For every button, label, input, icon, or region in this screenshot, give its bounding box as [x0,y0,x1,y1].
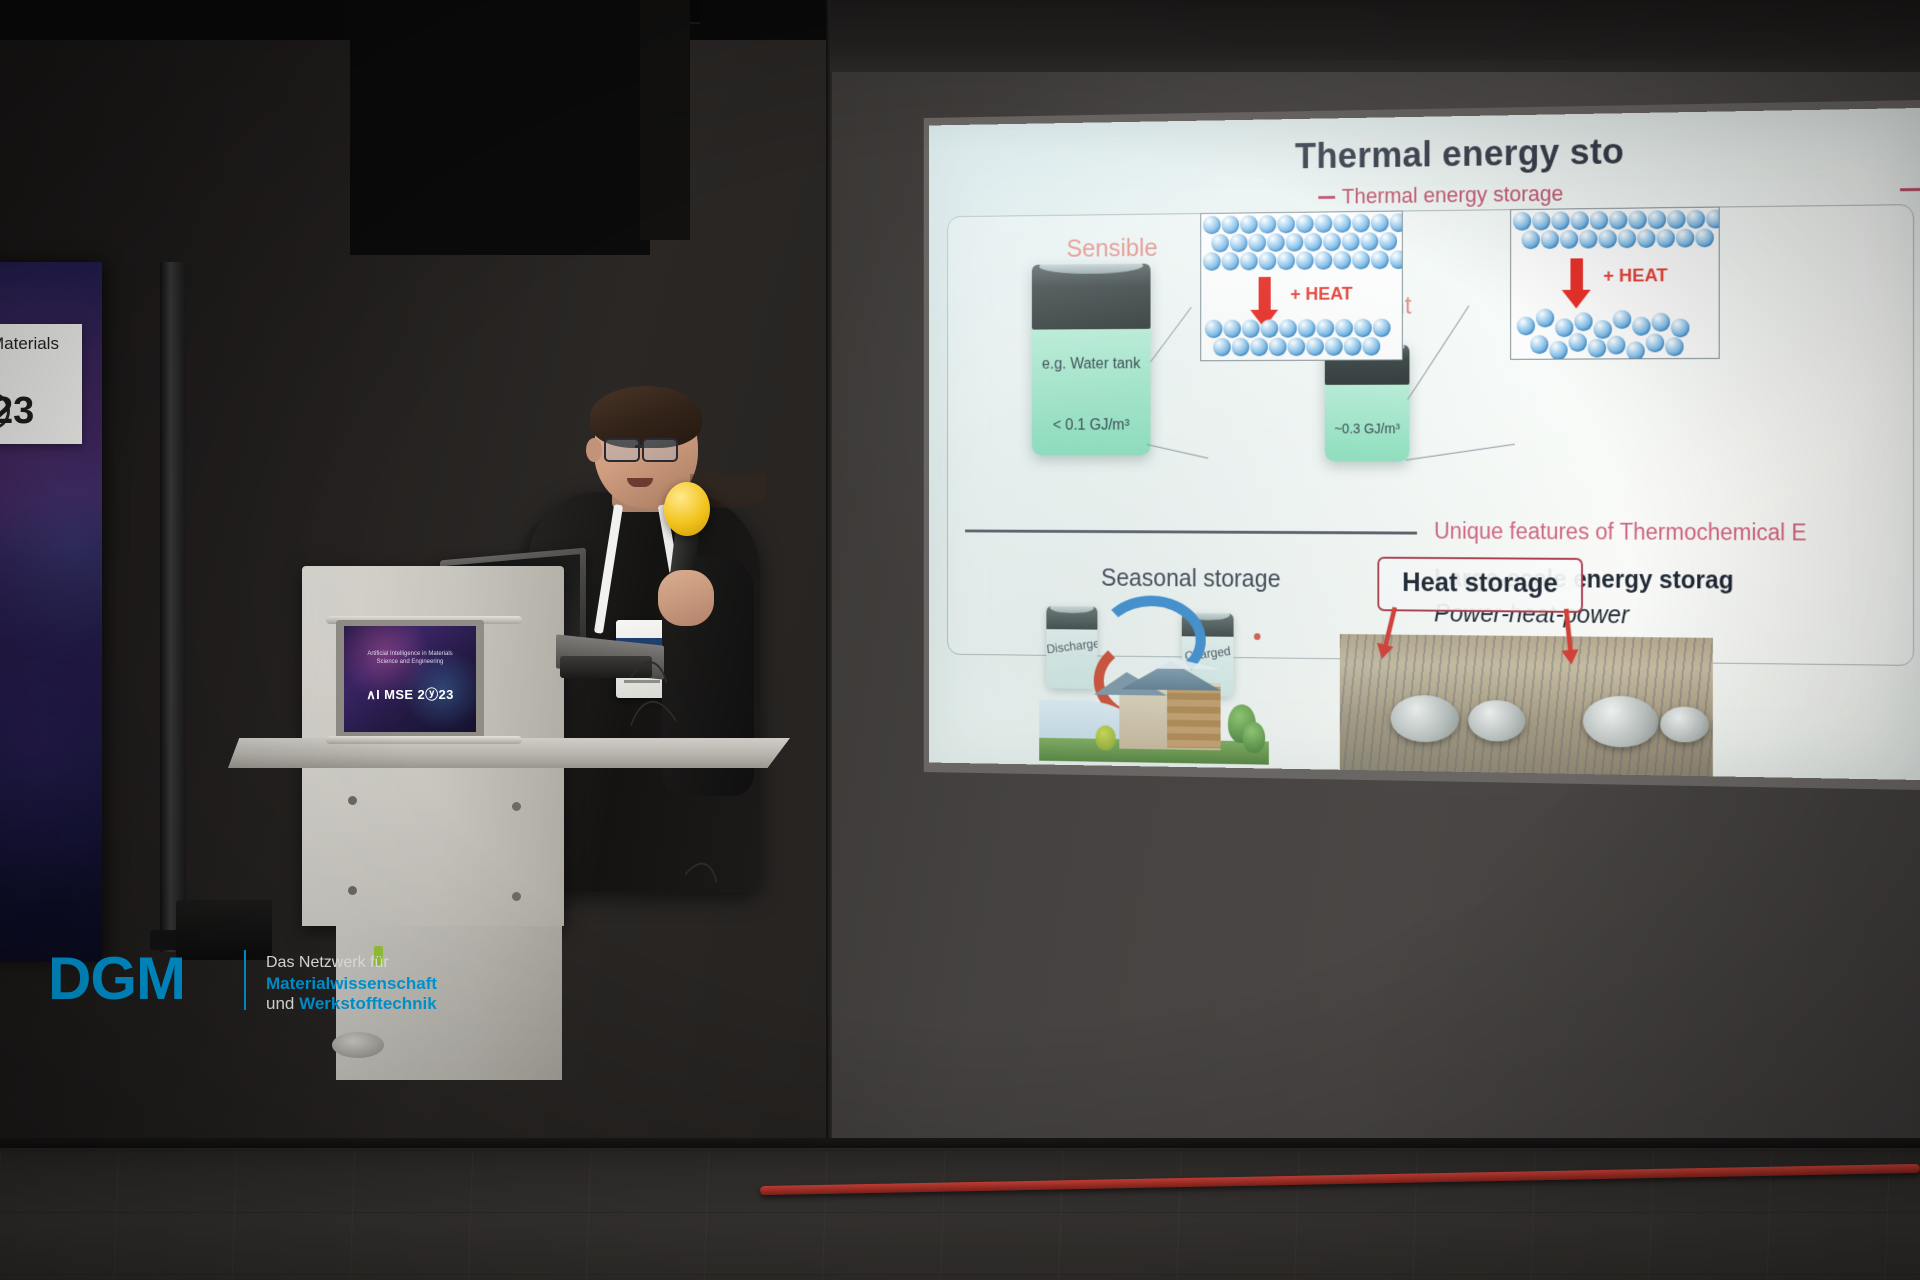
molecule-row [1513,209,1720,230]
photo-scene: Thermal energy sto Thermal energy storag… [0,0,1920,1280]
heat-arrow-icon [1259,277,1271,312]
lectern-screw [512,802,521,811]
molecule-row [1211,232,1397,252]
lectern-screen-line1: Artificial Intelligence in Materials Sci… [362,650,458,666]
molecule-row-scattered [1530,332,1683,359]
heat-storage-label: Heat storage [1379,559,1581,607]
lectern-screen-glow [344,626,476,732]
latent-density-label: ~0.3 GJ/m³ [1325,421,1410,437]
latent-molecule-inset: + HEAT [1510,207,1720,360]
subtitle-rule-left [1318,196,1335,199]
speaker-ear [586,438,602,462]
dgm-tagline-line3: und Werkstofftechnik [266,994,437,1014]
banner-card-line2: 23 [0,390,34,433]
roof-snow [1108,657,1233,670]
jar-lid [1032,264,1151,330]
sensible-label: Sensible [1066,233,1157,264]
banner-pole [160,262,186,952]
rollup-banner: Materials 23 ne [0,262,102,962]
dgm-wordmark: DGM [48,944,185,1013]
house-wood-facade [1167,686,1221,748]
dgm-line3-bold: Werkstofftechnik [299,994,437,1013]
heat-arrow-icon [1570,258,1583,292]
latent-jar: ~0.3 GJ/m³ [1325,345,1410,462]
lectern-foot [332,1032,384,1058]
glasses-right-lens [642,438,678,462]
dgm-divider [244,950,246,1010]
dgm-tagline-line2: Materialwissenschaft [266,974,437,994]
tree [1243,722,1265,753]
slide-title: Thermal energy sto [1295,131,1624,177]
dgm-logo: DGM Das Netzwerk für Materialwissenschaf… [48,944,448,1018]
glasses-left-lens [604,438,640,462]
lectern-screen-line2: ∧I MSE 2ⓨ23 [344,684,476,703]
lectern-screw [348,796,357,805]
storage-tank [1660,706,1709,742]
storage-tank [1468,700,1525,742]
projected-slide: Thermal energy sto Thermal energy storag… [929,108,1920,780]
heat-label-right: + HEAT [1603,265,1668,287]
house-illustration [1039,646,1269,764]
lectern-screw [348,886,357,895]
seasonal-storage-label: Seasonal storage [1101,565,1281,594]
dgm-line3-prefix: und [266,994,299,1013]
unique-features-label: Unique features of Thermochemical E [1434,518,1807,546]
sensible-molecule-inset: + HEAT [1200,211,1403,362]
jar-body [1032,323,1151,455]
speaker-hand [658,570,714,626]
heat-storage-callout: Heat storage [1377,557,1583,613]
lectern-screw [512,892,521,901]
water-tank-label: e.g. Water tank [1032,356,1151,374]
molecule-row [1522,228,1714,249]
lectern-confidence-monitor[interactable]: Artificial Intelligence in Materials Sci… [344,626,476,732]
molecule-row [1205,319,1391,339]
microphone-head-icon [664,482,710,536]
storage-tank [1391,695,1459,743]
molecule-row [1203,213,1403,234]
shrub [1096,725,1116,750]
banner-info-card: Materials 23 [0,324,82,444]
subtitle-rule-right [1900,188,1920,191]
accent-dot [1254,633,1261,640]
wall-niche [350,0,650,255]
sensible-density-label: < 0.1 GJ/m³ [1032,417,1151,434]
molecule-row [1213,337,1380,356]
water-tank-jar: e.g. Water tank < 0.1 GJ/m³ [1032,264,1151,456]
slide-subtitle: Thermal energy storage [1342,181,1564,209]
wall-niche-edge [640,0,690,240]
molecule-row [1203,250,1403,270]
lectern-rail-bottom [326,736,522,744]
heat-label-left: + HEAT [1290,284,1352,306]
storage-tank [1583,695,1658,747]
banner-card-line1: Materials [0,334,59,354]
solar-thermal-plant-photo [1340,634,1713,776]
dgm-tagline-line1: Das Netzwerk für [266,954,389,972]
